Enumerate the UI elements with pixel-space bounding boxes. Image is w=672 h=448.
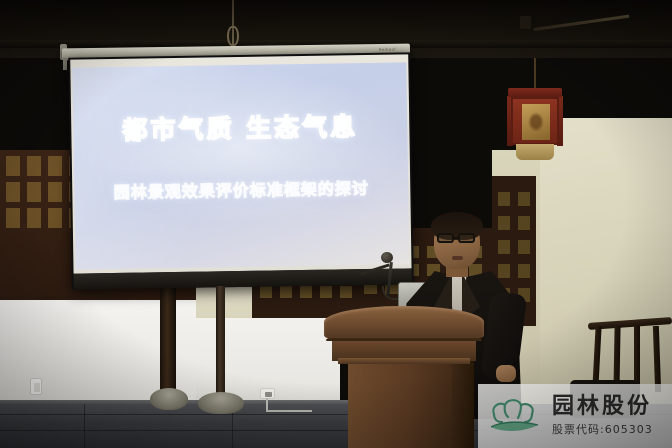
ceiling-fixture xyxy=(520,16,531,29)
hanging-cord-loop xyxy=(227,26,239,46)
microphone-head xyxy=(381,252,393,263)
watermark-company: 园林股份 xyxy=(552,395,653,418)
hand xyxy=(496,365,516,382)
lantern-cap xyxy=(508,88,562,97)
podium-molding-2 xyxy=(338,358,470,364)
watermark-plate: 园林股份 股票代码:605303 xyxy=(478,384,672,448)
glasses-icon xyxy=(437,233,454,243)
podium xyxy=(324,306,484,448)
podium-side xyxy=(452,356,474,448)
slide-title: 都市气质 生态气息 xyxy=(73,106,408,147)
screen-brand-label: Redleaf xyxy=(379,47,396,52)
mouth xyxy=(452,256,463,260)
column-stone-base xyxy=(150,388,188,410)
projected-slide: 都市气质 生态气息 园林景观效果评价标准框架的探讨 xyxy=(72,62,409,269)
lantern-cord xyxy=(534,58,536,90)
chinese-lantern xyxy=(506,88,564,160)
light-switch[interactable] xyxy=(30,378,42,395)
glasses-bridge xyxy=(453,237,459,239)
screen-stand-base xyxy=(198,392,244,414)
podium-top xyxy=(324,306,484,338)
watermark-stock-code: 股票代码:605303 xyxy=(552,421,653,437)
tree-cloud-logo-icon xyxy=(488,394,546,438)
screen-stand-pole xyxy=(216,286,225,404)
projector-sheen xyxy=(72,62,291,269)
lantern-panel xyxy=(522,104,550,140)
projection-screen: 都市气质 生态气息 园林景观效果评价标准框架的探讨 xyxy=(68,52,414,289)
photo-scene: Redleaf 都市气质 生态气息 园林景观效果评价标准框架的探讨  xyxy=(0,0,672,448)
lantern-body xyxy=(511,97,559,145)
outlet-cable-run xyxy=(266,410,312,412)
slide-subtitle: 园林景观效果评价标准框架的探讨 xyxy=(74,174,408,203)
glasses-right-lens xyxy=(458,233,475,243)
lantern-skirt xyxy=(516,144,554,160)
screen-bracket xyxy=(63,58,67,70)
podium-body xyxy=(348,364,454,448)
